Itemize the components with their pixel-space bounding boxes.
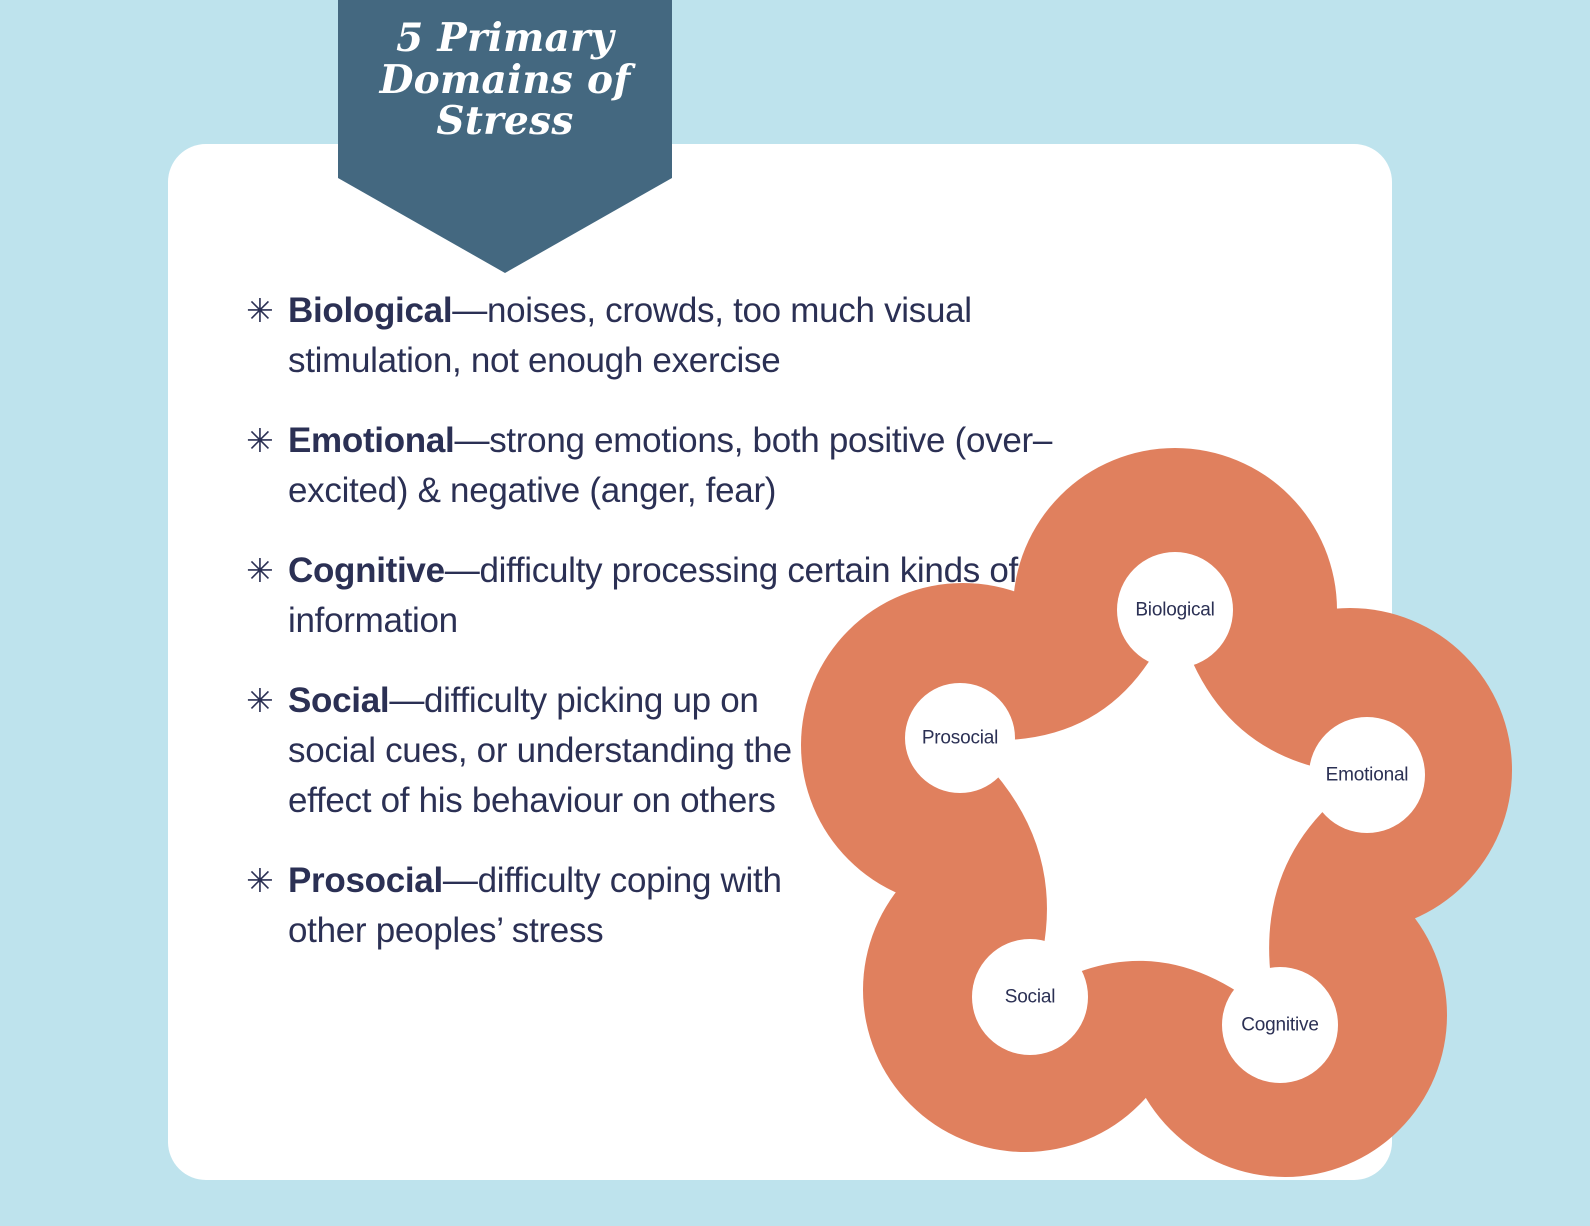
- node-label: Emotional: [1326, 765, 1409, 786]
- asterisk-bullet-icon: ✳: [246, 546, 288, 596]
- node-social[interactable]: Social: [972, 939, 1088, 1055]
- node-biological[interactable]: Biological: [1117, 552, 1233, 668]
- node-cognitive[interactable]: Cognitive: [1222, 967, 1338, 1083]
- em-dash: —: [452, 291, 487, 330]
- node-label: Cognitive: [1241, 1015, 1318, 1036]
- asterisk-bullet-icon: ✳: [246, 856, 288, 906]
- asterisk-bullet-icon: ✳: [246, 416, 288, 466]
- domain-term: Emotional: [288, 421, 454, 460]
- list-item-text: Social—difficulty picking up on social c…: [288, 676, 808, 826]
- flower-svg: BiologicalEmotionalCognitiveSocialProsoc…: [830, 470, 1500, 1150]
- asterisk-bullet-icon: ✳: [246, 286, 288, 336]
- node-emotional[interactable]: Emotional: [1309, 717, 1425, 833]
- em-dash: —: [389, 681, 424, 720]
- em-dash: —: [443, 861, 478, 900]
- list-item: ✳ Biological—noises, crowds, too much vi…: [246, 286, 1146, 386]
- node-prosocial[interactable]: Prosocial: [905, 683, 1015, 793]
- asterisk-bullet-icon: ✳: [246, 676, 288, 726]
- banner-title-text: 5 Primary Domains of Stress: [338, 18, 672, 143]
- domain-term: Social: [288, 681, 389, 720]
- em-dash: —: [445, 551, 480, 590]
- node-label: Prosocial: [922, 728, 998, 749]
- list-item-text: Biological—noises, crowds, too much visu…: [288, 286, 1146, 386]
- list-item-text: Prosocial—difficulty coping with other p…: [288, 856, 858, 956]
- node-label: Biological: [1135, 600, 1214, 621]
- infographic-canvas: 5 Primary Domains of Stress ✳ Biological…: [0, 0, 1590, 1226]
- node-label: Social: [1005, 987, 1056, 1008]
- domain-term: Cognitive: [288, 551, 445, 590]
- domains-flower-diagram: BiologicalEmotionalCognitiveSocialProsoc…: [830, 470, 1500, 1150]
- domain-term: Biological: [288, 291, 452, 330]
- domain-term: Prosocial: [288, 861, 443, 900]
- em-dash: —: [454, 421, 489, 460]
